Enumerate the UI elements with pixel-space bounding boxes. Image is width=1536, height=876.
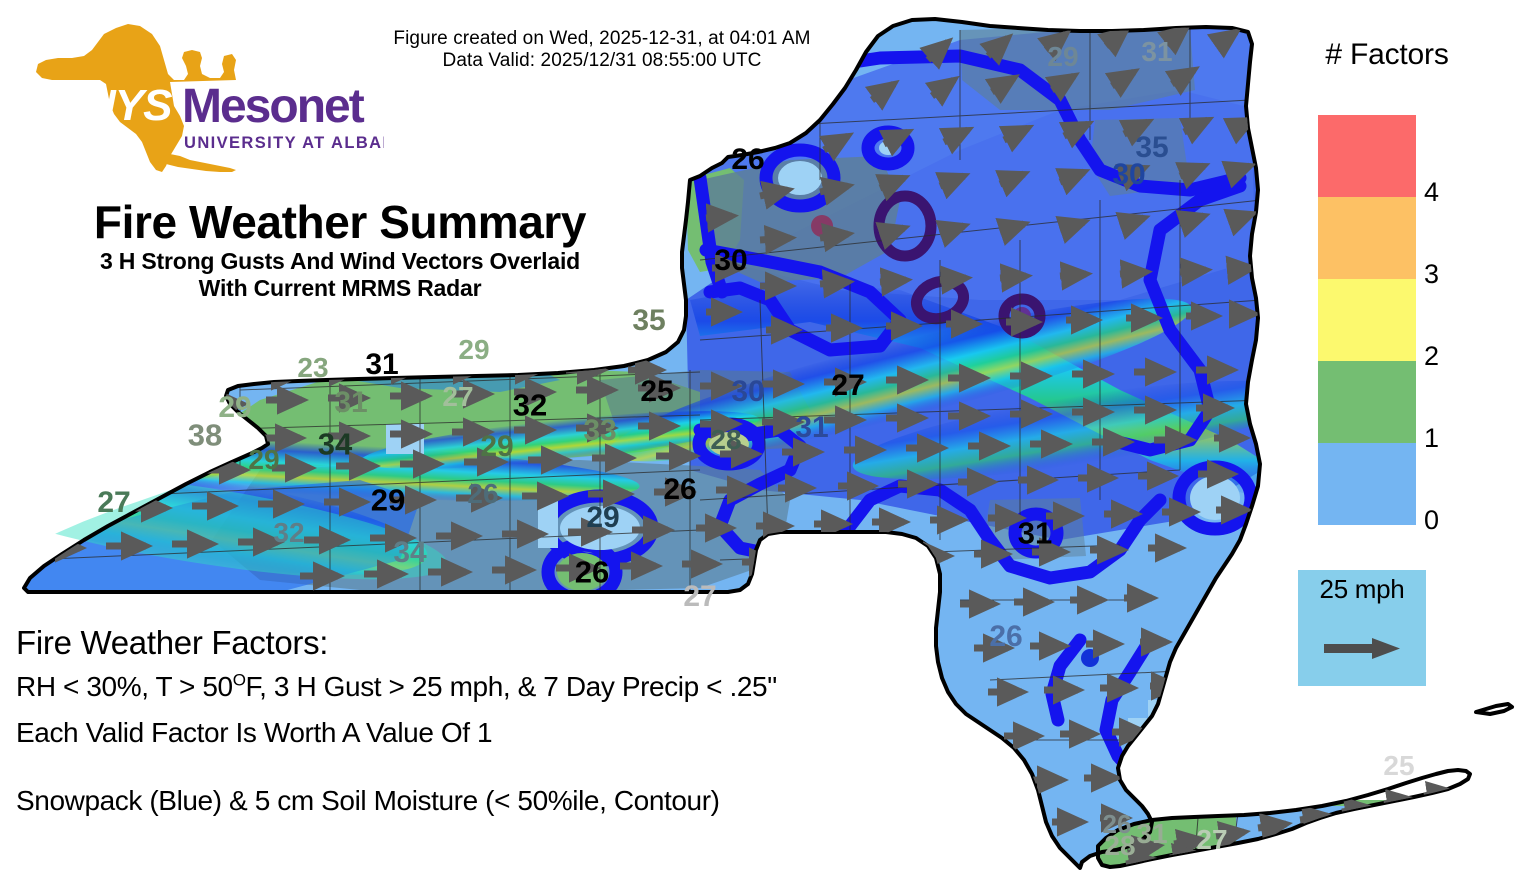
criteria-suffix: F, 3 H Gust > 25 mph, & 7 Day Precip < .…	[246, 671, 777, 702]
gust-value-label: 26	[575, 557, 609, 588]
gust-value-label: 29	[586, 503, 619, 533]
colorbar-swatch-4	[1318, 115, 1416, 197]
gust-value-label: 32	[513, 390, 547, 421]
gust-value-label: 35	[632, 306, 665, 336]
colorbar-tick-0: 0	[1424, 505, 1439, 536]
gust-value-label: 29	[371, 485, 405, 516]
nys-mesonet-logo: NYS Mesonet UNIVERSITY AT ALBANY	[24, 22, 384, 174]
gust-value-label: 26	[1103, 811, 1132, 837]
figure-created-line: Figure created on Wed, 2025-12-31, at 04…	[352, 28, 852, 50]
legend-title: # Factors	[1302, 38, 1472, 72]
factor-value-line: Each Valid Factor Is Worth A Value Of 1	[16, 710, 916, 756]
subtitle-line-2: With Current MRMS Radar	[10, 275, 670, 302]
wind-arrow-icon	[1298, 628, 1426, 668]
svg-text:UNIVERSITY AT ALBANY: UNIVERSITY AT ALBANY	[184, 134, 384, 152]
colorbar-swatch-3	[1318, 197, 1416, 279]
gust-value-label: 28	[710, 426, 741, 454]
criteria-prefix: RH < 30%, T > 50	[16, 671, 233, 702]
gust-value-label: 26	[731, 145, 764, 175]
gust-value-label: 27	[831, 371, 864, 401]
gust-value-label: 31	[334, 388, 367, 418]
factors-colorbar-ticks: 43210	[1424, 115, 1484, 525]
gust-value-label: 23	[297, 354, 328, 382]
footer-spacer	[16, 756, 916, 778]
gust-value-label: 29	[248, 446, 279, 474]
gust-value-label: 26	[467, 480, 498, 508]
gust-value-label: 29	[480, 432, 513, 462]
colorbar-tick-4: 4	[1424, 177, 1439, 208]
snowpack-soil-line: Snowpack (Blue) & 5 cm Soil Moisture (< …	[16, 778, 916, 824]
gust-value-label: 27	[97, 488, 130, 518]
gust-value-label: 26	[989, 622, 1022, 652]
gust-value-label: 31	[1136, 820, 1167, 848]
subtitle-line-1: 3 H Strong Gusts And Wind Vectors Overla…	[10, 248, 670, 275]
wind-scale-label: 25 mph	[1298, 574, 1426, 605]
gust-value-label: 27	[1196, 826, 1227, 854]
gust-value-label: 31	[1141, 38, 1172, 66]
gust-value-label: 26	[663, 475, 696, 505]
factors-heading: Fire Weather Factors:	[16, 622, 916, 664]
gust-value-label: 30	[714, 246, 747, 276]
gust-value-label: 25	[1383, 752, 1414, 780]
factors-colorbar	[1318, 115, 1416, 525]
colorbar-tick-3: 3	[1424, 259, 1439, 290]
gust-value-label: 25	[640, 377, 673, 407]
gust-value-label: 32	[273, 519, 304, 547]
gust-value-label: 30	[731, 377, 764, 407]
gust-value-label: 31	[365, 350, 398, 380]
colorbar-tick-2: 2	[1424, 341, 1439, 372]
fire-weather-factors-block: Fire Weather Factors: RH < 30%, T > 50OF…	[16, 622, 916, 824]
colorbar-swatch-2	[1318, 279, 1416, 361]
degree-symbol: O	[233, 671, 246, 690]
svg-text:Mesonet: Mesonet	[182, 80, 365, 133]
factors-criteria-line: RH < 30%, T > 50OF, 3 H Gust > 25 mph, &…	[16, 664, 916, 710]
gust-value-label: 29	[1047, 43, 1078, 71]
gust-value-label: 31	[795, 413, 828, 443]
colorbar-swatch-1	[1318, 361, 1416, 443]
title-block: Fire Weather Summary 3 H Strong Gusts An…	[10, 196, 670, 302]
colorbar-tick-1: 1	[1424, 423, 1439, 454]
gust-value-label: 33	[583, 416, 616, 446]
page-title: Fire Weather Summary	[10, 196, 670, 248]
gust-value-label: 34	[318, 429, 352, 460]
gust-value-label: 31	[1018, 518, 1052, 549]
svg-text:NYS: NYS	[84, 81, 172, 130]
gust-value-label: 27	[442, 383, 473, 411]
gust-value-label: 30	[1112, 160, 1145, 190]
gust-value-label: 29	[218, 393, 251, 423]
gust-value-label: 29	[458, 336, 489, 364]
gust-value-label: 38	[188, 420, 222, 451]
gust-value-label: 34	[393, 538, 426, 568]
figure-timestamp-block: Figure created on Wed, 2025-12-31, at 04…	[352, 28, 852, 72]
colorbar-swatch-0	[1318, 443, 1416, 525]
gust-value-label: 27	[683, 582, 716, 612]
data-valid-line: Data Valid: 2025/12/31 08:55:00 UTC	[352, 50, 852, 72]
wind-scale-key: 25 mph	[1298, 570, 1426, 686]
